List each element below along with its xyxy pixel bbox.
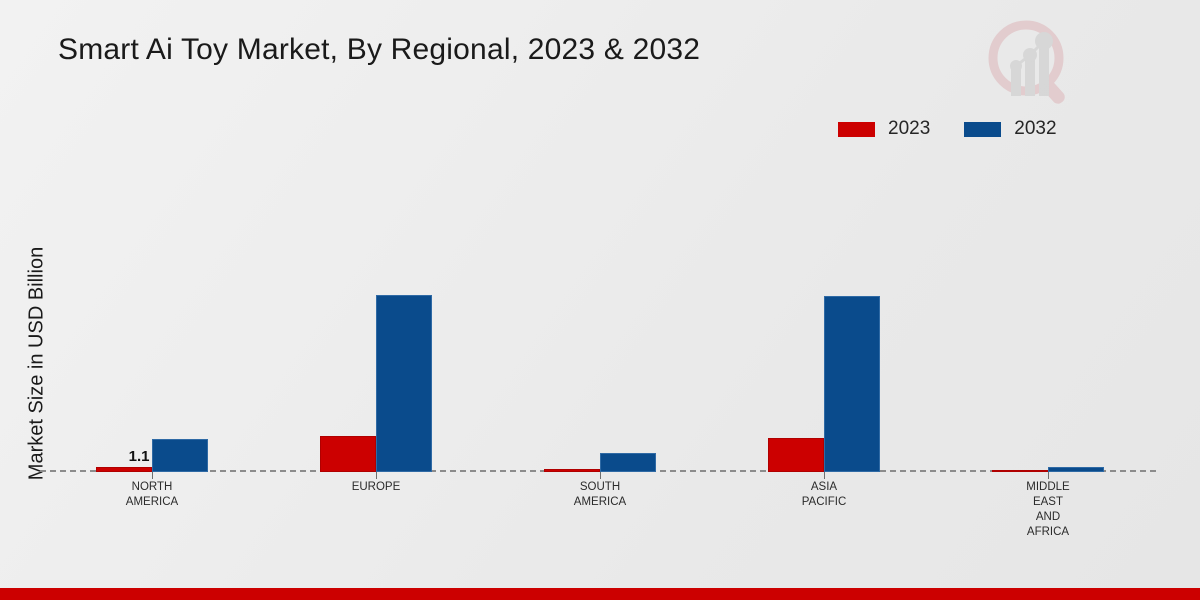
bar-groups: 1.1 (40, 140, 1160, 472)
plot-area: 1.1 (40, 140, 1160, 472)
bar-2032[interactable] (152, 439, 208, 472)
bar-group (936, 140, 1160, 472)
category-label-line: AMERICA (488, 495, 712, 510)
category-label: ASIAPACIFIC (712, 480, 936, 540)
bar-2023[interactable] (992, 470, 1048, 472)
bar-group (712, 140, 936, 472)
bar-pair (320, 295, 432, 472)
bar-value-label: 1.1 (129, 448, 150, 465)
bar-group (264, 140, 488, 472)
bar-2023[interactable] (320, 436, 376, 472)
category-label: SOUTHAMERICA (488, 480, 712, 540)
bar-2023[interactable] (544, 469, 600, 472)
bar-pair (544, 453, 656, 472)
bar-2032[interactable] (600, 453, 656, 472)
bar-2023[interactable] (96, 467, 152, 472)
legend-item-2023[interactable]: 2023 (838, 118, 930, 140)
category-label-line: ASIA (712, 480, 936, 495)
chart-title: Smart Ai Toy Market, By Regional, 2023 &… (58, 33, 700, 67)
axis-tick (824, 472, 825, 479)
category-label-line: AFRICA (936, 525, 1160, 540)
legend-swatch-2023 (838, 122, 875, 137)
category-label: NORTHAMERICA (40, 480, 264, 540)
axis-tick (600, 472, 601, 479)
x-axis-category-labels: NORTHAMERICAEUROPESOUTHAMERICAASIAPACIFI… (40, 480, 1160, 540)
bar-group (488, 140, 712, 472)
axis-tick (1048, 472, 1049, 479)
bar-group: 1.1 (40, 140, 264, 472)
axis-tick (376, 472, 377, 479)
bar-pair (96, 439, 208, 472)
bar-2032[interactable] (1048, 467, 1104, 472)
category-label-line: AMERICA (40, 495, 264, 510)
bar-pair (768, 296, 880, 472)
legend-swatch-2032 (964, 122, 1001, 137)
legend-label-2032: 2032 (1014, 118, 1056, 140)
footer-accent-strip (0, 588, 1200, 600)
legend-item-2032[interactable]: 2032 (964, 118, 1056, 140)
chart-legend: 2023 2032 (838, 118, 1057, 140)
category-label-line: MIDDLE (936, 480, 1160, 495)
category-label-line: NORTH (40, 480, 264, 495)
legend-label-2023: 2023 (888, 118, 930, 140)
axis-tick (152, 472, 153, 479)
bar-2032[interactable] (376, 295, 432, 472)
category-label-line: EAST (936, 495, 1160, 510)
category-label: MIDDLEEASTANDAFRICA (936, 480, 1160, 540)
category-label-line: PACIFIC (712, 495, 936, 510)
chart-page: Smart Ai Toy Market, By Regional, 2023 &… (0, 0, 1200, 600)
category-label-line: EUROPE (264, 480, 488, 495)
category-label-line: SOUTH (488, 480, 712, 495)
bar-2023[interactable] (768, 438, 824, 472)
category-label-line: AND (936, 510, 1160, 525)
bar-2032[interactable] (824, 296, 880, 472)
category-label: EUROPE (264, 480, 488, 540)
watermark-logo-icon (980, 14, 1080, 110)
